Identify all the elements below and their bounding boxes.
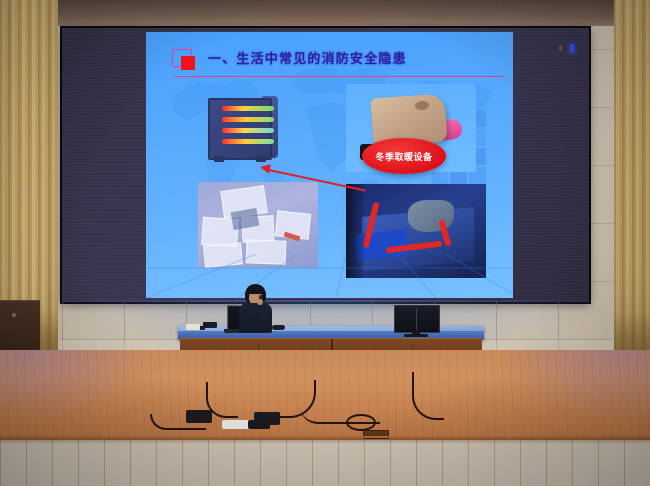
- title-underline-rule: [174, 76, 505, 77]
- auditorium-scene: 一、生活中常见的消防安全隐患: [0, 0, 650, 486]
- floor-light-glow-left: [0, 350, 150, 420]
- power-led-icon: [570, 44, 574, 53]
- external-monitor[interactable]: [394, 305, 440, 333]
- presenter-hand: [257, 299, 263, 305]
- desk-device[interactable]: [203, 322, 217, 328]
- adapter-block[interactable]: [248, 420, 270, 429]
- wall-upper-trim: [0, 0, 650, 26]
- microphone-receiver[interactable]: [272, 325, 285, 330]
- callout-label: 冬季取暖设备: [375, 150, 432, 163]
- callout-badge: 冬季取暖设备: [362, 138, 446, 174]
- callout-arrow-icon: [259, 162, 271, 174]
- led-video-wall[interactable]: 一、生活中常见的消防安全隐患: [62, 28, 589, 302]
- debris-pile: [408, 200, 454, 232]
- desk-papers[interactable]: [186, 324, 200, 330]
- presentation-slide: 一、生活中常见的消防安全隐患: [146, 32, 513, 298]
- blanket-spot: [415, 101, 430, 111]
- presenter-fringe: [246, 285, 265, 294]
- red-square-bullet-icon: [181, 56, 195, 70]
- power-strip[interactable]: [186, 410, 212, 423]
- stage-front-facade: [0, 436, 650, 486]
- slide-heading: 一、生活中常见的消防安全隐患: [208, 48, 407, 67]
- floor-light-glow-right: [500, 350, 650, 420]
- heater-body: [208, 98, 272, 160]
- image-electric-heater: [200, 90, 284, 168]
- right-curtain: [614, 0, 650, 352]
- slide-title-row: 一、生活中常见的消防安全隐患: [172, 48, 495, 74]
- presenter: [238, 284, 272, 332]
- monitor-base: [404, 334, 428, 337]
- slide-perspective-lines: [146, 254, 513, 298]
- cable-coil: [346, 414, 376, 431]
- side-cabinet[interactable]: [0, 300, 40, 357]
- secondary-led-icon: [559, 45, 562, 51]
